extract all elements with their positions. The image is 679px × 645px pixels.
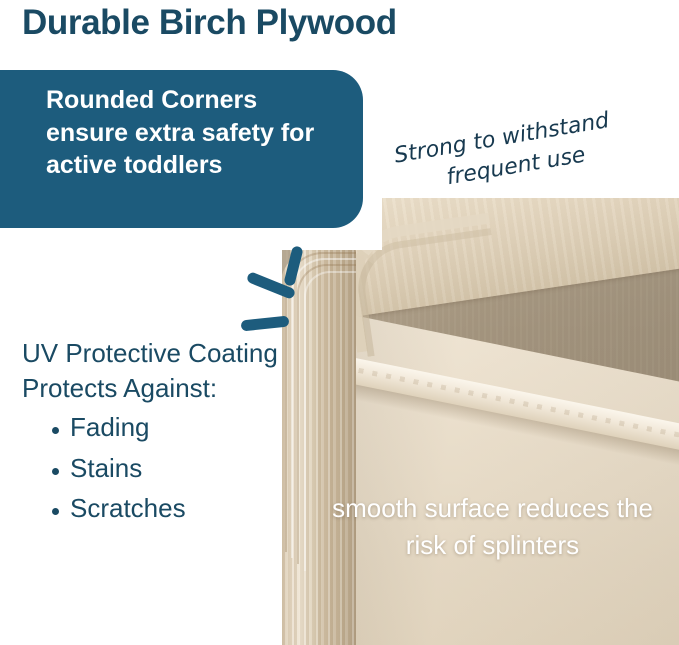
smooth-surface-caption: smooth surface reduces the risk of splin…: [330, 490, 655, 564]
corner-highlight-burst: [240, 246, 320, 336]
product-photo: [262, 198, 679, 645]
uv-protection-heading: UV Protective Coating Protects Against:: [22, 336, 292, 405]
handwritten-note: Strong to withstand frequent use: [392, 96, 670, 202]
list-item: Stains: [22, 451, 292, 486]
rounded-corners-badge: Rounded Corners ensure extra safety for …: [0, 70, 363, 228]
burst-dash-icon: [283, 245, 303, 286]
list-item: Fading: [22, 410, 292, 445]
list-item: Scratches: [22, 491, 292, 526]
burst-dash-icon: [241, 316, 290, 332]
uv-protection-section: UV Protective Coating Protects Against: …: [22, 336, 292, 526]
uv-protection-list: Fading Stains Scratches: [22, 410, 292, 526]
infographic-canvas: Durable Birch Plywood Rounded Corners en…: [0, 0, 679, 645]
rounded-corners-badge-label: Rounded Corners ensure extra safety for …: [46, 84, 346, 182]
page-title: Durable Birch Plywood: [22, 3, 397, 43]
